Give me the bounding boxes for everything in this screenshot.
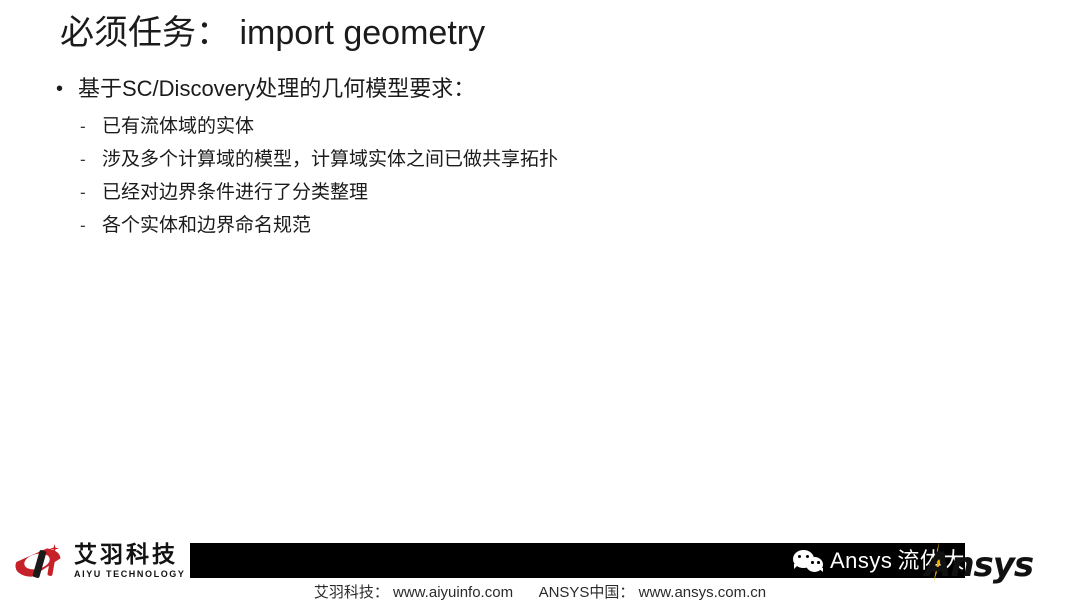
footer-caption: 艾羽科技： www.aiyuinfo.com ANSYS中国： www.ansy… bbox=[0, 583, 1080, 603]
ansys-wordmark: Ansys bbox=[925, 548, 1033, 582]
dash-marker-icon: - bbox=[80, 176, 102, 209]
slide-body: • 基于SC/Discovery处理的几何模型要求： - 已有流体域的实体 - … bbox=[56, 72, 956, 242]
list-item: - 各个实体和边界命名规范 bbox=[80, 209, 956, 242]
wechat-icon bbox=[793, 549, 823, 573]
page-title: 必须任务： import geometry bbox=[60, 10, 485, 56]
slide-footer: 艾羽科技 AIYU TECHNOLOGY Ansys流体大本营 bbox=[0, 528, 1080, 608]
aiyu-logo: 艾羽科技 AIYU TECHNOLOGY bbox=[14, 538, 186, 584]
ansys-caption-label: ANSYS中国： bbox=[539, 584, 635, 601]
list-item-text: 涉及多个计算域的模型，计算域实体之间已做共享拓扑 bbox=[102, 143, 956, 176]
ansys-logo: Ansys bbox=[925, 548, 1033, 582]
aiyu-caption-label: 艾羽科技： bbox=[314, 584, 389, 601]
list-item-text: 已有流体域的实体 bbox=[102, 110, 956, 143]
bullet-marker-icon: • bbox=[56, 72, 78, 106]
bullet-level1: • 基于SC/Discovery处理的几何模型要求： bbox=[56, 72, 956, 106]
dash-marker-icon: - bbox=[80, 110, 102, 143]
list-item-text: 已经对边界条件进行了分类整理 bbox=[102, 176, 956, 209]
aiyu-logo-text: 艾羽科技 AIYU TECHNOLOGY bbox=[74, 542, 186, 580]
aiyu-swoosh-logo-icon bbox=[14, 541, 66, 581]
dash-marker-icon: - bbox=[80, 143, 102, 176]
bullet-level1-text: 基于SC/Discovery处理的几何模型要求： bbox=[78, 72, 956, 106]
list-item: - 涉及多个计算域的模型，计算域实体之间已做共享拓扑 bbox=[80, 143, 956, 176]
slide-canvas: 必须任务： import geometry • 基于SC/Discovery处理… bbox=[0, 0, 1080, 608]
list-item: - 已经对边界条件进行了分类整理 bbox=[80, 176, 956, 209]
dash-marker-icon: - bbox=[80, 209, 102, 242]
aiyu-logo-cn-name: 艾羽科技 bbox=[74, 542, 186, 567]
list-item-text: 各个实体和边界命名规范 bbox=[102, 209, 956, 242]
sub-bullet-list: - 已有流体域的实体 - 涉及多个计算域的模型，计算域实体之间已做共享拓扑 - … bbox=[56, 110, 956, 242]
wechat-brand-text: Ansys bbox=[830, 548, 892, 573]
aiyu-caption-url: www.aiyuinfo.com bbox=[393, 584, 513, 601]
list-item: - 已有流体域的实体 bbox=[80, 110, 956, 143]
aiyu-logo-en-name: AIYU TECHNOLOGY bbox=[74, 568, 186, 580]
ansys-caption-url: www.ansys.com.cn bbox=[639, 584, 767, 601]
